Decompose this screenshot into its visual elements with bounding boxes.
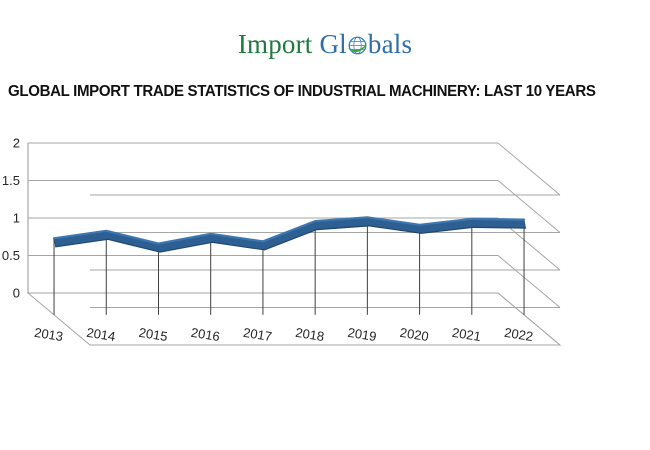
y-axis-tick-labels: 00.511.52: [2, 136, 20, 301]
logo-word-gl: Gl: [319, 29, 346, 59]
y-axis-tick-label: 1.5: [2, 173, 20, 188]
logo-word-import: Import: [238, 29, 313, 59]
x-axis-label-2015: 2015: [138, 325, 169, 344]
y-axis-tick-label: 0: [13, 286, 20, 301]
y-axis-tick-label: 0.5: [2, 248, 20, 263]
data-series-ribbon: [54, 217, 526, 252]
x-axis-label-2013: 2013: [33, 325, 64, 344]
x-axis-label-2021: 2021: [451, 325, 482, 344]
x-axis-label-2022: 2022: [503, 325, 534, 344]
globe-icon: [347, 34, 368, 55]
logo-word-bals: bals: [368, 29, 412, 59]
chart-gridlines: [28, 143, 560, 345]
x-axis-category-labels: 2013201420152016201720182019202020212022: [33, 325, 534, 344]
brand-logo: Import Gl bals: [0, 24, 650, 64]
x-axis-label-2018: 2018: [294, 325, 325, 344]
x-axis-label-2017: 2017: [242, 325, 273, 344]
y-axis-tick-label: 2: [13, 136, 20, 151]
y-axis-tick-label: 1: [13, 211, 20, 226]
x-axis-label-2020: 2020: [399, 325, 430, 344]
page-title: GLOBAL IMPORT TRADE STATISTICS OF INDUST…: [8, 83, 638, 101]
x-axis-label-2019: 2019: [347, 325, 378, 344]
line-chart-3d: 00.511.52 201320142015201620172018201920…: [0, 130, 650, 400]
x-axis-label-2016: 2016: [190, 325, 221, 344]
logo-wordmark: Import Gl bals: [238, 31, 412, 58]
x-axis-label-2014: 2014: [86, 325, 117, 344]
